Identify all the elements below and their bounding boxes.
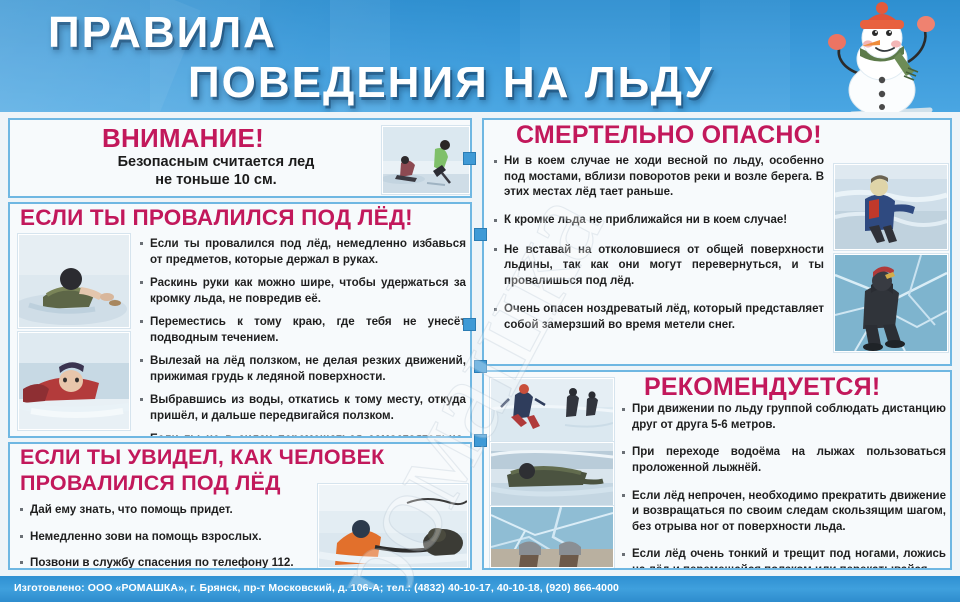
- saw-person-heading-line-2: ПРОВАЛИЛСЯ ПОД ЛЁД: [20, 472, 281, 495]
- person-crawling-on-ice-photo: [18, 234, 130, 328]
- list-item: Если ты провалился под лёд, немедленно и…: [140, 236, 466, 267]
- ice-safety-poster: ПРАВИЛА ПОВЕДЕНИЯ НА ЛЬДУ: [0, 0, 960, 602]
- feet-on-cracked-ice-photo: [490, 506, 614, 568]
- skaters-group-photo: [490, 378, 614, 442]
- poster-footer: Изготовлено: ООО «РОМАШКА», г. Брянск, п…: [0, 576, 960, 602]
- panel-connector-nub: [463, 318, 476, 331]
- attention-heading: ВНИМАНИЕ!: [102, 124, 264, 152]
- skaters-on-ice-photo: [382, 126, 470, 194]
- recommended-heading: РЕКОМЕНДУЕТСЯ!: [644, 374, 880, 401]
- poster-header: ПРАВИЛА ПОВЕДЕНИЯ НА ЛЬДУ: [0, 0, 960, 112]
- list-item: Немедленно зови на помощь взрослых.: [20, 529, 306, 545]
- recommended-bullet-list: При движении по льду группой соблюдать д…: [622, 402, 946, 568]
- attention-subtext-line-2: не тоньше 10 см.: [66, 172, 366, 189]
- panel-connector-nub: [474, 434, 487, 447]
- attention-subtext-line-1: Безопасным считается лед: [66, 154, 366, 171]
- person-lying-on-ice-photo: [490, 442, 614, 506]
- panel-deadly-danger: СМЕРТЕЛЬНО ОПАСНО! Ни в коем случае не х…: [482, 118, 952, 366]
- fell-through-bullet-list: Если ты провалился под лёд, немедленно и…: [140, 236, 466, 436]
- list-item: Не вставай на отколовшиеся от общей пове…: [494, 243, 824, 290]
- list-item: Выбравшись из воды, откатись к тому мест…: [140, 392, 466, 423]
- poster-title-line-2: ПОВЕДЕНИЯ НА ЛЬДУ: [188, 58, 714, 108]
- child-on-ice-pointing-photo: [834, 164, 948, 250]
- person-in-water-red-jacket-photo: [18, 332, 130, 430]
- saw-person-heading-line-1: ЕСЛИ ТЫ УВИДЕЛ, КАК ЧЕЛОВЕК: [20, 446, 384, 469]
- footer-credits-text: Изготовлено: ООО «РОМАШКА», г. Брянск, п…: [14, 582, 619, 594]
- list-item: Если ты не в силах перемещаться самостоя…: [140, 431, 466, 436]
- panel-connector-nub: [463, 152, 476, 165]
- list-item: Если лёд непрочен, необходимо прекратить…: [622, 489, 946, 536]
- panel-attention: ВНИМАНИЕ! Безопасным считается лед не то…: [8, 118, 472, 198]
- fell-through-heading: ЕСЛИ ТЫ ПРОВАЛИЛСЯ ПОД ЛЁД!: [20, 206, 413, 230]
- deadly-danger-bullet-list: Ни в коем случае не ходи весной по льду,…: [494, 154, 824, 342]
- list-item: При движении по льду группой соблюдать д…: [622, 402, 946, 433]
- list-item: Очень опасен ноздреватый лёд, который пр…: [494, 302, 824, 333]
- list-item: Вылезай на лёд ползком, не делая резких …: [140, 353, 466, 384]
- panel-fell-through-ice: ЕСЛИ ТЫ ПРОВАЛИЛСЯ ПОД ЛЁД!: [8, 202, 472, 438]
- panel-recommended: РЕКОМЕНДУЕТСЯ!: [482, 370, 952, 570]
- panel-connector-nub: [474, 360, 487, 373]
- list-item: Если лёд очень тонкий и трещит под ногам…: [622, 547, 946, 568]
- panel-connector-nub: [474, 228, 487, 241]
- list-item: К кромке льда не приближайся ни в коем с…: [494, 213, 824, 229]
- deadly-danger-heading: СМЕРТЕЛЬНО ОПАСНО!: [516, 122, 822, 149]
- list-item: При переходе водоёма на лыжах пользовать…: [622, 445, 946, 476]
- list-item: Дай ему знать, что помощь придет.: [20, 502, 306, 518]
- saw-person-bullet-list: Дай ему знать, что помощь придет. Немедл…: [20, 502, 306, 568]
- poster-title-line-1: ПРАВИЛА: [48, 8, 277, 58]
- panel-saw-person-fall: ЕСЛИ ТЫ УВИДЕЛ, КАК ЧЕЛОВЕК ПРОВАЛИЛСЯ П…: [8, 442, 472, 570]
- rescuer-with-rope-photo: [318, 484, 468, 568]
- child-walking-on-cracked-ice-photo: [834, 254, 948, 352]
- snowman-mascot-icon: [812, 2, 952, 112]
- list-item: Ни в коем случае не ходи весной по льду,…: [494, 154, 824, 201]
- list-item: Позвони в службу спасения по телефону 11…: [20, 555, 306, 568]
- list-item: Переместись к тому краю, где тебя не уне…: [140, 314, 466, 345]
- list-item: Раскинь руки как можно шире, чтобы удерж…: [140, 275, 466, 306]
